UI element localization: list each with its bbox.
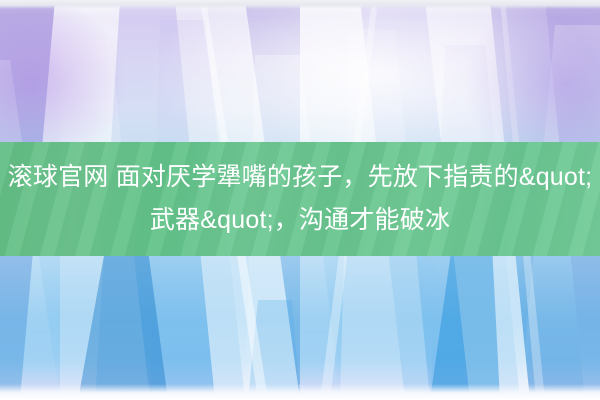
caption-band: 滚球官网 面对厌学犟嘴的孩子，先放下指责的&quot;武器&quot;，沟通才能… xyxy=(0,142,600,256)
banner-image: · 滚球官网 面对厌学犟嘴的孩子，先放下指责的&quot;武器&quot;，沟通… xyxy=(0,0,600,400)
caption-text: 滚球官网 面对厌学犟嘴的孩子，先放下指责的&quot;武器&quot;，沟通才能… xyxy=(0,156,600,242)
